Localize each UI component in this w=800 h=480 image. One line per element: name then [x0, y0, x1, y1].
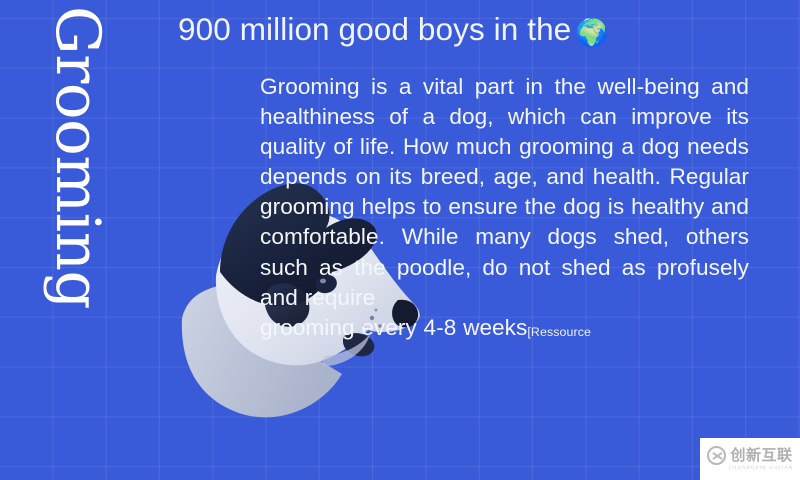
watermark-row: 创新互联	[707, 446, 792, 465]
body-last-line-text: grooming every 4-8 weeks	[260, 315, 527, 340]
body-last-line: grooming every 4-8 weeks[Ressource	[260, 313, 749, 347]
earth-globe-icon: 🌍	[575, 18, 609, 48]
page-title-text: 900 million good boys in the	[178, 11, 571, 47]
circled-x-logo-icon	[707, 446, 726, 465]
ressource-note: [Ressource	[527, 325, 591, 339]
section-title-vertical: Grooming	[49, 6, 105, 309]
body-text: Grooming is a vital part in the well-bei…	[260, 72, 749, 347]
slide-canvas: Grooming 900 million good boys in the🌍	[0, 0, 800, 480]
body-paragraph: Grooming is a vital part in the well-bei…	[260, 74, 749, 310]
side-title-container: Grooming	[0, 0, 165, 480]
watermark: 创新互联 CHUANGXIN HULIAN	[700, 438, 800, 480]
page-title: 900 million good boys in the🌍	[178, 11, 778, 49]
watermark-pinyin-text: CHUANGXIN HULIAN	[729, 467, 793, 472]
watermark-chinese-text: 创新互联	[730, 448, 792, 463]
